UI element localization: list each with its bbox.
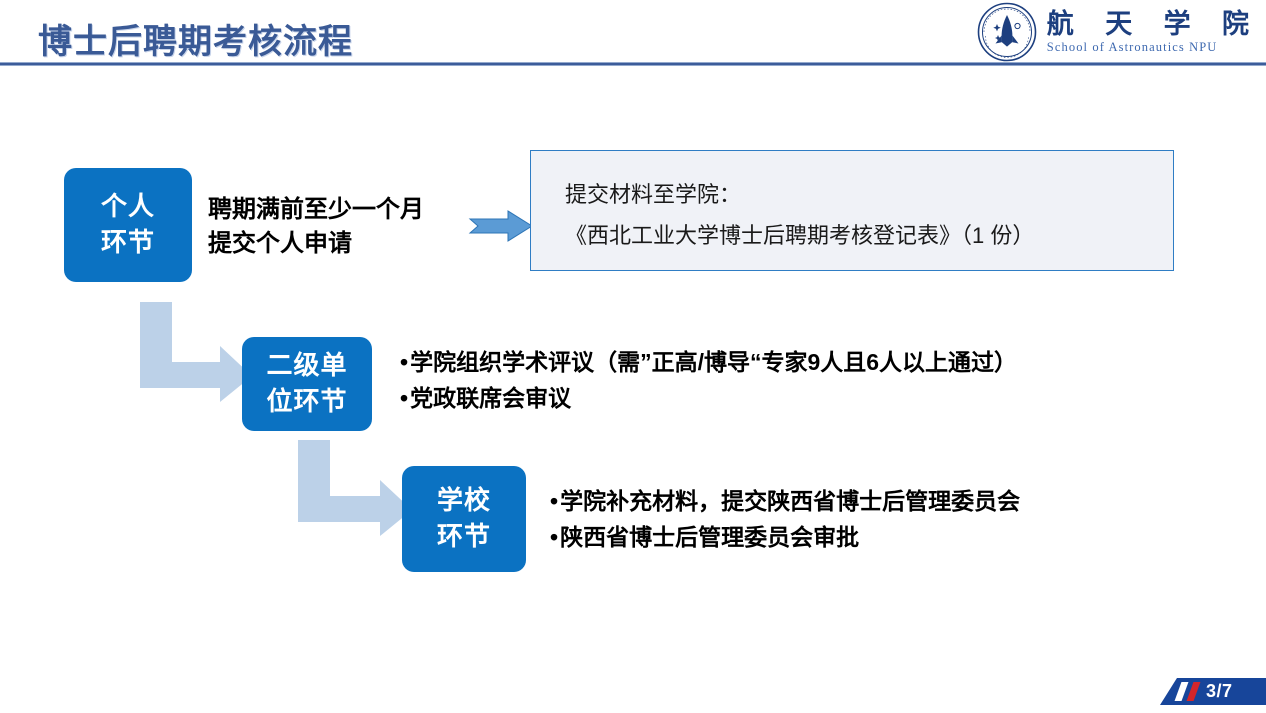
stage-box-personal-line2: 环节 — [101, 225, 155, 261]
stage-box-personal: 个人 环节 — [64, 168, 192, 282]
list-item-text: 学院补充材料，提交陕西省博士后管理委员会 — [560, 488, 1020, 514]
list-item-text: 党政联席会审议 — [410, 385, 571, 411]
stage-box-university: 学校 环节 — [402, 466, 526, 572]
page-number-text: 3/7 — [1206, 678, 1233, 705]
info-panel-line2: 《西北工业大学博士后聘期考核登记表》（1 份） — [565, 216, 1173, 257]
arrow-elbow-down-right-icon — [296, 438, 414, 538]
list-item-text: 陕西省博士后管理委员会审批 — [560, 524, 859, 550]
header-divider — [0, 62, 1266, 66]
stage-box-university-line2: 环节 — [437, 519, 491, 555]
stage-box-personal-line1: 个人 — [101, 189, 155, 225]
submission-info-panel: 提交材料至学院： 《西北工业大学博士后聘期考核登记表》（1 份） — [530, 150, 1174, 271]
list-item: •学院组织学术评议（需”正高/博导“专家9人且6人以上通过） — [400, 345, 1017, 381]
stage-2-bullet-list: •学院组织学术评议（需”正高/博导“专家9人且6人以上通过） •党政联席会审议 — [400, 345, 1017, 416]
stage-box-university-line1: 学校 — [437, 483, 491, 519]
list-item-text: 学院组织学术评议（需”正高/博导“专家9人且6人以上通过） — [410, 349, 1017, 375]
stage-1-caption: 聘期满前至少一个月 提交个人申请 — [208, 193, 424, 261]
list-item: •陕西省博士后管理委员会审批 — [550, 520, 1020, 556]
stage-3-bullet-list: •学院补充材料，提交陕西省博士后管理委员会 •陕西省博士后管理委员会审批 — [550, 484, 1020, 555]
list-item: •党政联席会审议 — [400, 381, 1017, 417]
arrow-right-icon — [468, 208, 534, 244]
bullet-marker-icon: • — [400, 345, 408, 381]
logo-name-cn: 航 天 学 院 — [1047, 11, 1260, 39]
stage-1-caption-line1: 聘期满前至少一个月 — [208, 193, 424, 227]
bullet-marker-icon: • — [400, 381, 408, 417]
school-of-astronautics-emblem-icon — [977, 2, 1037, 62]
stage-1-caption-line2: 提交个人申请 — [208, 227, 424, 261]
page-title: 博士后聘期考核流程 — [38, 14, 353, 63]
list-item: •学院补充材料，提交陕西省博士后管理委员会 — [550, 484, 1020, 520]
stage-box-department: 二级单 位环节 — [242, 337, 372, 431]
bullet-marker-icon: • — [550, 520, 558, 556]
stage-box-department-line2: 位环节 — [266, 384, 347, 420]
logo-name-en: School of Astronautics NPU — [1047, 40, 1218, 55]
bullet-marker-icon: • — [550, 484, 558, 520]
page-number-badge: 3/7 — [1160, 678, 1266, 705]
logo-wordmark: 航 天 学 院 School of Astronautics NPU — [1047, 9, 1260, 55]
info-panel-line1: 提交材料至学院： — [565, 175, 1173, 216]
institution-logo: 航 天 学 院 School of Astronautics NPU — [977, 2, 1260, 62]
slide-header: 博士后聘期考核流程 航 天 学 院 School of Astronautics… — [0, 0, 1266, 67]
arrow-elbow-down-right-icon — [138, 300, 254, 404]
stage-box-department-line1: 二级单 — [266, 348, 347, 384]
